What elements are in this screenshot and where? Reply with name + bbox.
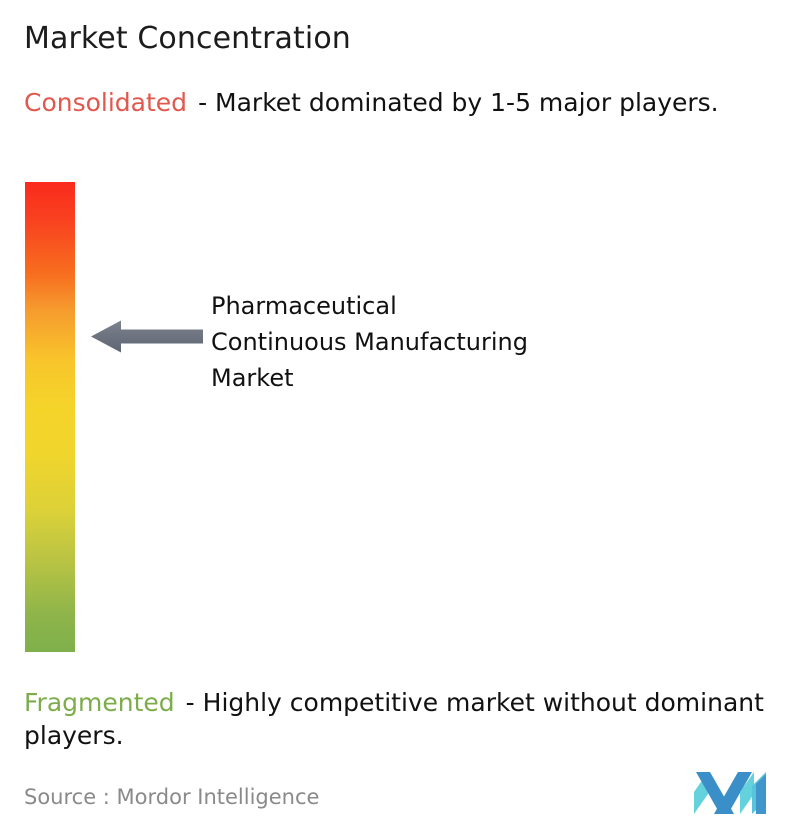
marker-label-line-3: Market: [211, 360, 671, 396]
legend-consolidated-description: - Market dominated by 1-5 major players.: [198, 88, 719, 117]
arrow-left-icon: [91, 320, 203, 353]
legend-fragmented: Fragmented- Highly competitive market wi…: [24, 686, 792, 752]
marker-label-line-2: Continuous Manufacturing: [211, 324, 671, 360]
marker-arrow: [91, 320, 203, 353]
legend-fragmented-keyword: Fragmented: [24, 688, 175, 717]
marker-label-line-1: Pharmaceutical: [211, 288, 671, 324]
mi-monogram-icon: [694, 772, 766, 814]
legend-consolidated-keyword: Consolidated: [24, 88, 187, 117]
source-attribution: Source : Mordor Intelligence: [24, 783, 319, 811]
market-concentration-infographic: Market Concentration Consolidated- Marke…: [0, 0, 796, 834]
marker-label: Pharmaceutical Continuous Manufacturing …: [211, 288, 671, 396]
legend-consolidated: Consolidated- Market dominated by 1-5 ma…: [24, 86, 780, 119]
mordor-intelligence-logo: [694, 772, 766, 814]
page-title: Market Concentration: [24, 20, 351, 58]
concentration-gradient-bar: [25, 182, 75, 652]
